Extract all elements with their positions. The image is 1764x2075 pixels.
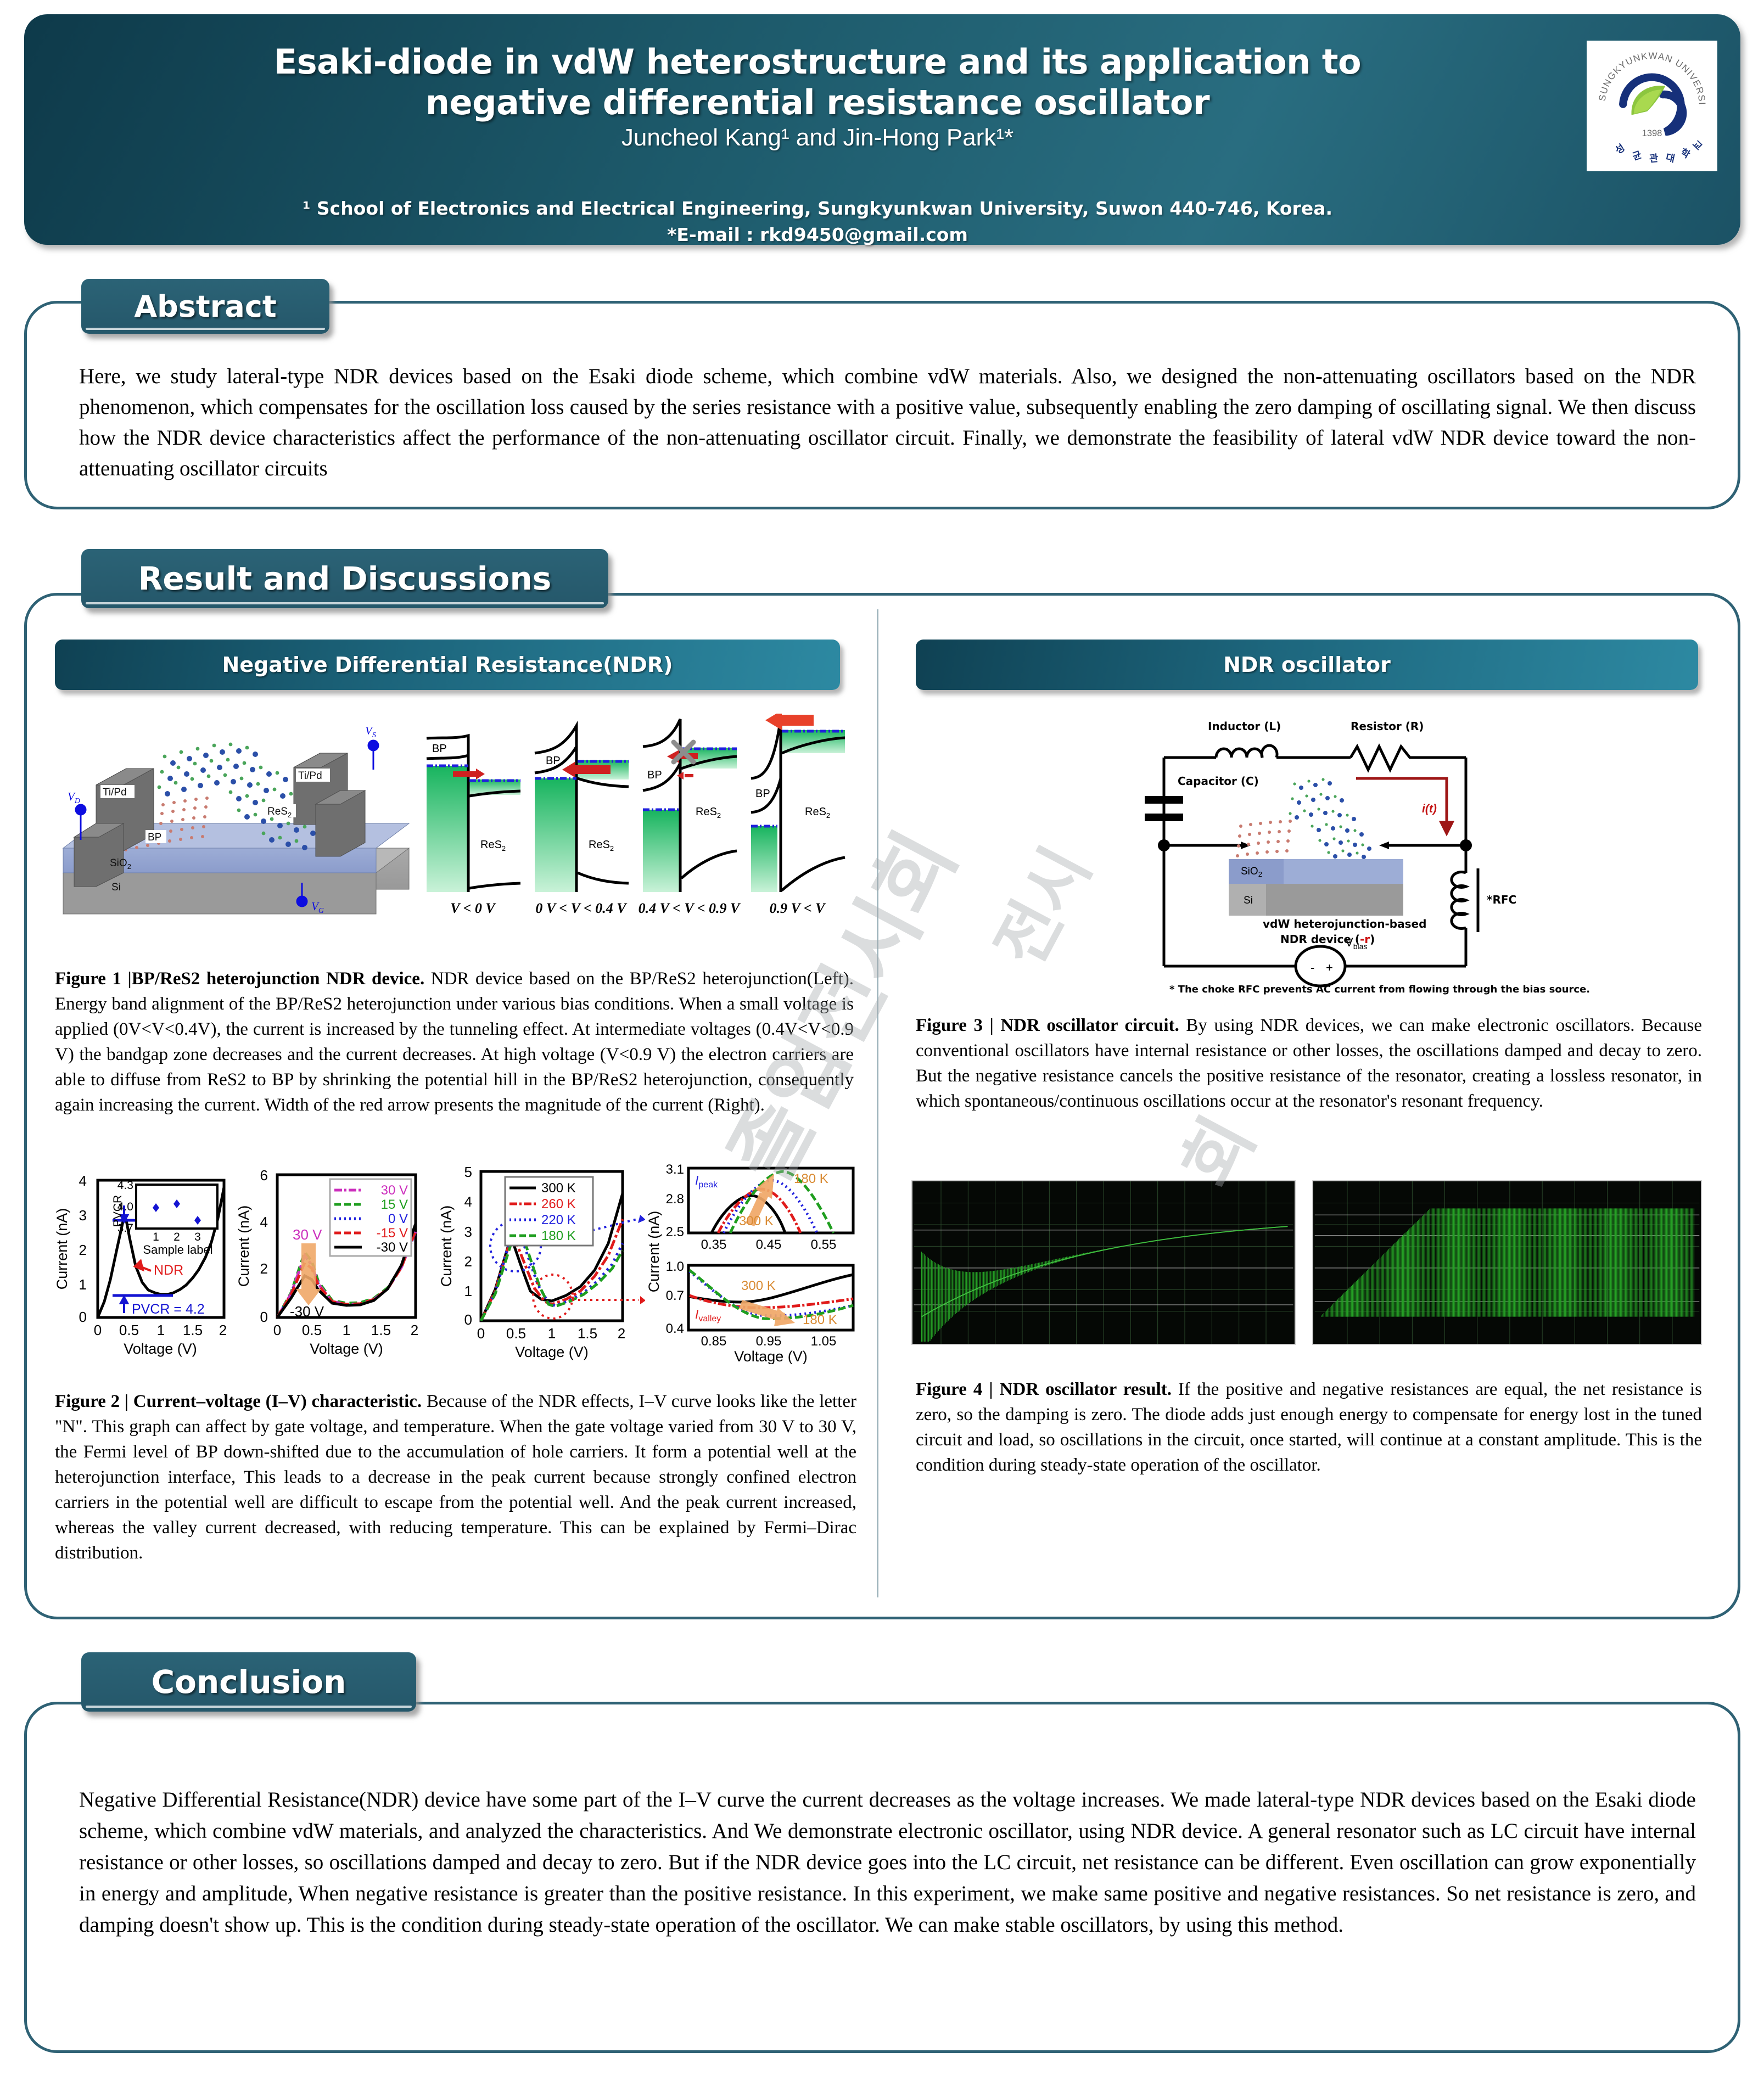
chart4-valley-ytick-1: 0.7 (666, 1288, 684, 1303)
label-device-line1: vdW heterojunction-based (1263, 917, 1426, 930)
chart2-legend-2: 0 V (388, 1212, 408, 1226)
chart1-xtick-4: 2 (219, 1322, 227, 1338)
band2-bp-label: BP (546, 755, 561, 767)
section-tab-conclusion: Conclusion (81, 1652, 416, 1712)
svg-text:ReS2: ReS2 (480, 839, 506, 853)
chart1-ytick-3: 3 (79, 1207, 87, 1224)
label-res2: ReS (267, 806, 288, 817)
band3-bias-label: 0.4 V < V < 0.9 V (634, 900, 744, 917)
label-res2-sub: 2 (288, 811, 292, 819)
section-tab-abstract: Abstract (81, 279, 329, 334)
chart1-xtick-1: 0.5 (119, 1322, 139, 1338)
chart4-peak-xtick-1: 0.45 (756, 1237, 782, 1252)
chart2-ytick-0: 0 (260, 1309, 268, 1325)
chart-peak-valley-insets: Current (nA) 3.1 2.8 2.5 0.35 0.45 0.55 … (647, 1158, 877, 1364)
chart-iv-gate-voltage: 6 4 2 0 0 0.5 1 1.5 2 Voltage (V) Curren… (238, 1158, 435, 1364)
band1-bias-label: V < 0 V (418, 900, 528, 917)
subsection-header-ndr: Negative Differential Resistance(NDR) (55, 640, 840, 690)
title-line-1: Esaki-diode in vdW heterostructure and i… (274, 42, 1361, 82)
chart2-legend-4: -30 V (377, 1240, 408, 1255)
chart1-ytick-0: 0 (79, 1309, 87, 1325)
subsection-ndr-label: Negative Differential Resistance(NDR) (222, 653, 673, 677)
chart3-ylabel: Current (nA) (439, 1205, 455, 1287)
chart2-xtick-0: 0 (273, 1322, 281, 1338)
figure4-scope-plots (911, 1180, 1702, 1345)
chart3-legend-0: 300 K (541, 1181, 576, 1196)
results-tab-label: Result and Discussions (138, 560, 552, 597)
chart4-peak-annot-180k: 180 K (794, 1171, 828, 1186)
chart2-ytick-2: 4 (260, 1214, 268, 1230)
band4-bp-label: BP (755, 788, 770, 800)
chart3-xtick-4: 2 (618, 1325, 625, 1342)
tab-underline (86, 328, 325, 330)
label-capacitor: Capacitor (C) (1178, 775, 1259, 788)
chart3-xtick-2: 1 (548, 1325, 556, 1342)
band-panel-1: BP ReS2 V < 0 V (425, 714, 522, 895)
chart3-xlabel: Voltage (V) (515, 1344, 589, 1360)
chart4-ylabel: Current (nA) (647, 1211, 662, 1293)
label-si: Si (111, 882, 121, 893)
university-logo: SUNGKYUNKWAN UNIVERSITY 1398 성 균 관 대 학 교 (1587, 41, 1717, 171)
figure1-caption-text: NDR device based on the BP/ReS2 heteroju… (55, 969, 854, 1115)
chart2-xtick-4: 2 (411, 1322, 418, 1338)
author-list: Juncheol Kang¹ and Jin-Hong Park¹* (123, 124, 1512, 152)
logo-year: 1398 (1642, 128, 1662, 138)
section-tab-results: Result and Discussions (81, 549, 608, 608)
chart3-legend-3: 180 K (541, 1229, 576, 1243)
conclusion-tab-label: Conclusion (152, 1663, 346, 1701)
chart3-xtick-3: 1.5 (578, 1325, 597, 1342)
chart1-inset-xlabel: Sample label (143, 1243, 212, 1257)
chart1-pvcr-annotation: PVCR = 4.2 (132, 1302, 205, 1317)
svg-text:ReS2: ReS2 (696, 806, 721, 820)
affiliation-line: ¹ School of Electronics and Electrical E… (303, 198, 1332, 219)
chart2-ylabel: Current (nA) (238, 1205, 252, 1287)
tab-underline (86, 602, 604, 604)
band2-bias-label: 0 V < V < 0.4 V (526, 900, 636, 917)
abstract-text: Here, we study lateral-type NDR devices … (79, 361, 1696, 484)
chart3-ytick-2: 2 (464, 1253, 472, 1270)
svg-text:관: 관 (1649, 153, 1659, 165)
chart2-annotation-30v: 30 V (293, 1226, 322, 1243)
title-line-2: negative differential resistance oscilla… (425, 82, 1209, 122)
chart4-valley-ytick-0: 0.4 (666, 1321, 684, 1336)
figure4-caption-bold: Figure 4 | NDR oscillator result. (916, 1379, 1172, 1399)
figure1-caption: Figure 1 |BP/ReS2 heterojunction NDR dev… (55, 966, 854, 1118)
chart1-inset-xtick-0: 1 (153, 1231, 159, 1243)
circuit-footnote: * The choke RFC prevents AC current from… (1169, 984, 1590, 995)
figure4-caption: Figure 4 | NDR oscillator result. If the… (916, 1377, 1702, 1478)
chart2-xtick-1: 0.5 (302, 1322, 322, 1338)
chart4-peak-xtick-2: 0.55 (811, 1237, 837, 1252)
chart3-legend-1: 260 K (541, 1197, 576, 1212)
subsection-oscillator-label: NDR oscillator (1223, 653, 1391, 677)
figure1-band-diagrams: BP ReS2 V < 0 V BP ReS2 0 V < V < 0.4 V (425, 714, 848, 928)
band4-res2-label: ReS (805, 806, 826, 818)
label-inductor: Inductor (L) (1208, 720, 1281, 733)
label-left-contact: Ti/Pd (103, 787, 127, 798)
chart4-ivalley-label: Ivalley (695, 1307, 721, 1323)
chart4-valley-annot-300k: 300 K (741, 1278, 776, 1293)
chart4-valley-ytick-2: 1.0 (666, 1259, 684, 1274)
chart2-xlabel: Voltage (V) (310, 1341, 383, 1357)
conclusion-panel: Negative Differential Resistance(NDR) de… (24, 1702, 1740, 2053)
svg-text:ReS2: ReS2 (589, 839, 614, 853)
label-bp: BP (148, 832, 161, 843)
figure3-oscillator-circuit: - + i(t) SiO2 Si (911, 708, 1702, 999)
figure3-caption-bold: Figure 3 | NDR oscillator circuit. (916, 1016, 1179, 1035)
figure1-caption-bold: Figure 1 |BP/ReS2 heterojunction NDR dev… (55, 969, 424, 989)
band4-bias-label: 0.9 V < V (742, 900, 852, 917)
chart-iv-temperature: 5 4 3 2 1 0 0 0.5 1 1.5 2 Voltage (V) Cu… (439, 1158, 645, 1364)
chart3-legend-2: 220 K (541, 1213, 576, 1227)
chart3-ytick-1: 1 (464, 1283, 472, 1299)
figure2-caption: Figure 2 | Current–voltage (I–V) charact… (55, 1389, 856, 1566)
svg-text:VD: VD (68, 790, 80, 805)
svg-text:VS: VS (365, 724, 376, 739)
chart1-ytick-4: 4 (79, 1173, 87, 1189)
email-line: *E-mail : rkd9450@gmail.com (667, 224, 968, 245)
svg-text:대: 대 (1665, 152, 1676, 165)
label-current: i(t) (1422, 803, 1437, 815)
column-divider (877, 609, 878, 1597)
chart3-ytick-3: 3 (464, 1224, 472, 1240)
chart1-inset-ytick-2: 4.3 (117, 1179, 133, 1192)
chart4-peak-ytick-2: 3.1 (666, 1162, 684, 1177)
figure2-caption-bold: Figure 2 | Current–voltage (I–V) charact… (55, 1392, 422, 1411)
band-panel-4: BP ReS2 0.9 V < V (750, 714, 846, 895)
chart1-xlabel: Voltage (V) (124, 1341, 197, 1357)
label-rfc: *RFC (1487, 893, 1516, 906)
chart1-ndr-annotation: NDR (154, 1263, 183, 1278)
figure2-caption-text: Because of the NDR effects, I–V curve lo… (55, 1392, 856, 1563)
chart3-ytick-4: 4 (464, 1193, 472, 1210)
chart3-ytick-5: 5 (464, 1164, 472, 1180)
chart4-peak-ytick-0: 2.5 (666, 1225, 684, 1240)
chart4-xlabel: Voltage (V) (734, 1348, 808, 1364)
chart2-annotation-neg30v: -30 V (290, 1303, 324, 1320)
figure3-caption: Figure 3 | NDR oscillator circuit. By us… (916, 1013, 1702, 1114)
device-si-label: Si (1244, 895, 1253, 906)
chart3-xtick-1: 0.5 (506, 1325, 526, 1342)
conclusion-text: Negative Differential Resistance(NDR) de… (79, 1784, 1696, 1941)
chart2-xtick-3: 1.5 (371, 1322, 391, 1338)
chart1-inset-ylabel: PVCR (111, 1195, 124, 1227)
chart2-ytick-1: 2 (260, 1260, 268, 1277)
band1-res2-label: ReS (480, 839, 502, 851)
chart1-xtick-3: 1.5 (183, 1322, 203, 1338)
chart4-valley-xtick-1: 0.95 (756, 1334, 782, 1349)
chart4-ipeak-label: Ipeak (695, 1173, 718, 1190)
band-panel-3: BP ReS2 0.4 V < V < 0.9 V (642, 714, 738, 895)
chart2-xtick-2: 1 (343, 1322, 350, 1338)
chart3-xtick-0: 0 (477, 1325, 485, 1342)
affiliation-block: ¹ School of Electronics and Electrical E… (123, 195, 1512, 248)
chart1-xtick-2: 1 (157, 1322, 165, 1338)
bias-plus: + (1326, 961, 1333, 974)
chart1-inset-xtick-1: 2 (173, 1231, 180, 1243)
chart2-legend-1: 15 V (381, 1197, 408, 1212)
chart4-valley-annot-180k: 180 K (803, 1313, 837, 1327)
chart1-ylabel: Current (nA) (55, 1208, 70, 1290)
chart4-valley-xtick-0: 0.85 (701, 1334, 727, 1349)
band3-res2-label: ReS (696, 806, 717, 818)
subsection-header-oscillator: NDR oscillator (916, 640, 1698, 690)
band-panel-2: BP ReS2 0 V < V < 0.4 V (534, 714, 630, 895)
chart4-valley-xtick-2: 1.05 (811, 1334, 837, 1349)
chart1-xtick-0: 0 (94, 1322, 102, 1338)
chart2-legend-0: 30 V (381, 1183, 408, 1198)
page-title: Esaki-diode in vdW heterostructure and i… (123, 42, 1512, 123)
chart4-peak-xtick-0: 0.35 (701, 1237, 727, 1252)
scope-damped-oscillation (911, 1180, 1296, 1345)
chart1-ytick-2: 2 (79, 1242, 87, 1258)
chart1-ytick-1: 1 (79, 1276, 87, 1293)
scope-sustained-oscillation (1312, 1180, 1702, 1345)
band3-bp-label: BP (647, 769, 662, 781)
chart1-inset-xtick-2: 3 (194, 1231, 201, 1243)
chart4-peak-ytick-1: 2.8 (666, 1192, 684, 1207)
band1-bp-label: BP (432, 743, 447, 755)
band2-res2-label: ReS (589, 839, 610, 851)
svg-text:ReS2: ReS2 (805, 806, 830, 820)
label-resistor: Resistor (R) (1351, 720, 1424, 733)
sungkyunkwan-logo-icon: SUNGKYUNKWAN UNIVERSITY 1398 성 균 관 대 학 교 (1592, 46, 1712, 166)
abstract-tab-label: Abstract (134, 289, 276, 324)
bias-minus: - (1311, 961, 1314, 974)
chart2-ytick-3: 6 (260, 1167, 268, 1184)
label-right-contact: Ti/Pd (298, 770, 322, 782)
figure2-charts: 4 3 2 1 0 0 0.5 1 1.5 2 Voltage (V) Curr… (55, 1158, 878, 1364)
chart2-legend-3: -15 V (377, 1226, 408, 1241)
figure1-device-schematic: Ti/Pd Ti/Pd BP ReS2 SiO2 Si VD VS VG (58, 708, 420, 928)
chart-iv-single: 4 3 2 1 0 0 0.5 1 1.5 2 Voltage (V) Curr… (55, 1158, 236, 1364)
poster-header: Esaki-diode in vdW heterostructure and i… (24, 14, 1740, 245)
chart4-peak-annot-300k: 300 K (739, 1214, 774, 1229)
tab-underline (86, 1706, 412, 1708)
chart3-ytick-0: 0 (464, 1311, 472, 1328)
